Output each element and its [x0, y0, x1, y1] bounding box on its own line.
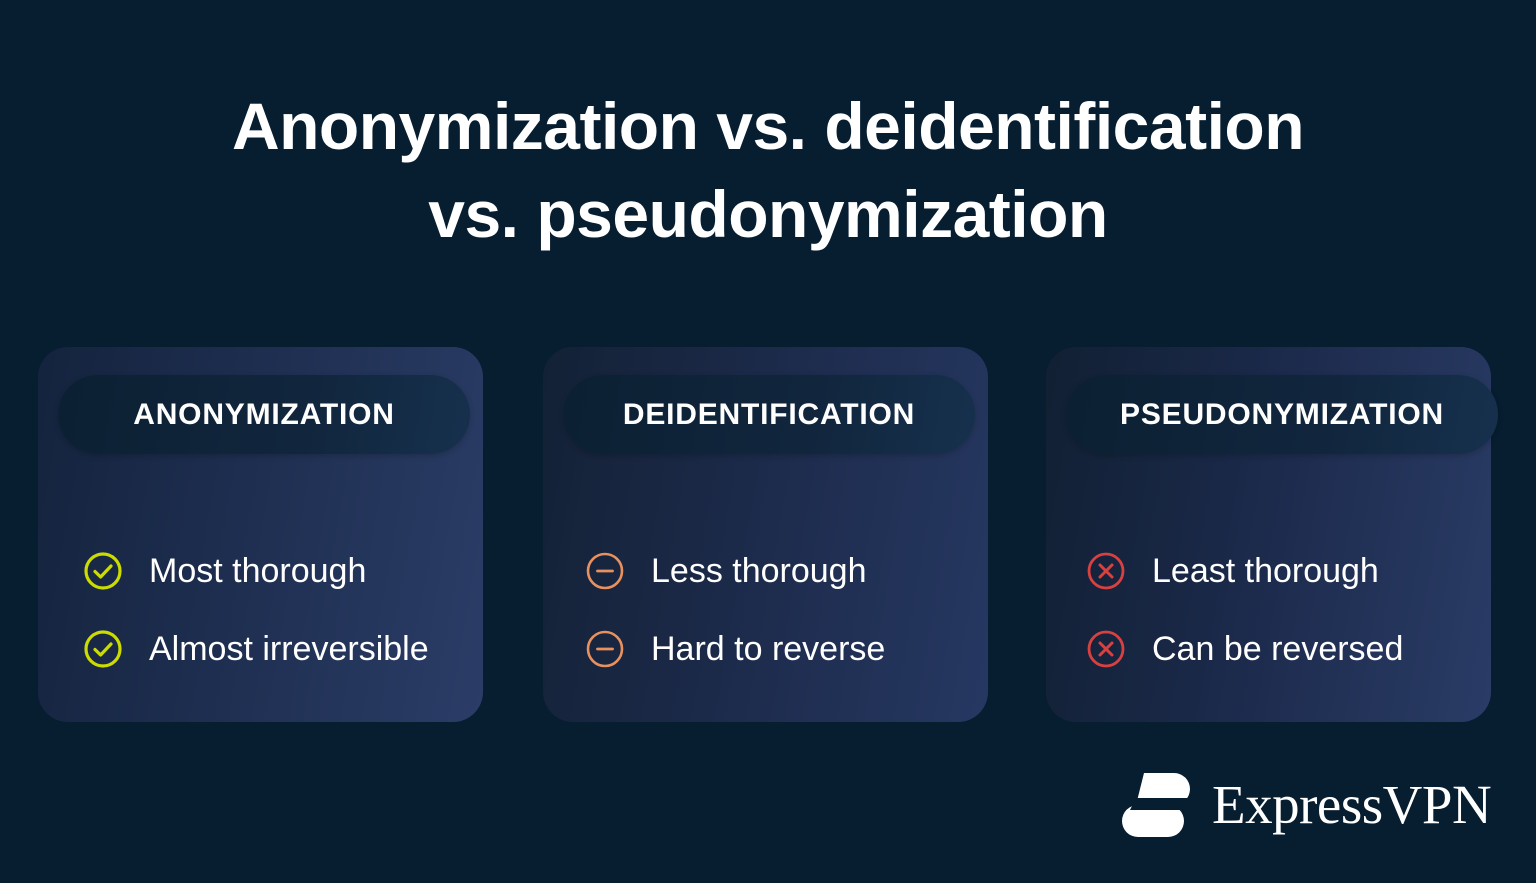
card-pseudonymization-title: PSEUDONYMIZATION: [1120, 398, 1444, 432]
list-item-label: Can be reversed: [1152, 629, 1403, 669]
check-circle-icon: [83, 629, 123, 669]
list-item-label: Less thorough: [651, 551, 867, 591]
card-deidentification-header: DEIDENTIFICATION: [563, 375, 975, 454]
page-title-line-1: Anonymization vs. deidentification: [0, 82, 1536, 170]
minus-circle-icon: [585, 551, 625, 591]
expressvpn-wordmark: ExpressVPN: [1212, 775, 1491, 835]
expressvpn-logo: ExpressVPN: [1122, 762, 1452, 848]
list-item: Least thorough: [1046, 532, 1491, 610]
list-item: Most thorough: [38, 532, 483, 610]
card-anonymization: ANONYMIZATION Most thorough Almost irrev…: [38, 347, 483, 722]
check-circle-icon: [83, 551, 123, 591]
minus-circle-icon: [585, 629, 625, 669]
card-anonymization-bullets: Most thorough Almost irreversible: [38, 532, 483, 688]
card-anonymization-header: ANONYMIZATION: [58, 375, 470, 454]
list-item: Almost irreversible: [38, 610, 483, 688]
list-item-label: Almost irreversible: [149, 629, 429, 669]
list-item: Less thorough: [543, 532, 988, 610]
comparison-cards: ANONYMIZATION Most thorough Almost irrev…: [38, 347, 1498, 722]
card-deidentification: DEIDENTIFICATION Less thorough Hard to r…: [543, 347, 988, 722]
list-item-label: Least thorough: [1152, 551, 1379, 591]
card-pseudonymization-bullets: Least thorough Can be reversed: [1046, 532, 1491, 688]
card-pseudonymization: PSEUDONYMIZATION Least thorough Can be r…: [1046, 347, 1491, 722]
card-pseudonymization-header: PSEUDONYMIZATION: [1066, 375, 1498, 454]
card-deidentification-bullets: Less thorough Hard to reverse: [543, 532, 988, 688]
list-item: Can be reversed: [1046, 610, 1491, 688]
list-item-label: Most thorough: [149, 551, 366, 591]
card-anonymization-title: ANONYMIZATION: [133, 398, 395, 432]
page-title: Anonymization vs. deidentification vs. p…: [0, 82, 1536, 258]
expressvpn-logo-mark: [1122, 769, 1198, 841]
page-title-line-2: vs. pseudonymization: [0, 170, 1536, 258]
card-deidentification-title: DEIDENTIFICATION: [623, 398, 915, 432]
cross-circle-icon: [1086, 551, 1126, 591]
cross-circle-icon: [1086, 629, 1126, 669]
list-item-label: Hard to reverse: [651, 629, 885, 669]
list-item: Hard to reverse: [543, 610, 988, 688]
